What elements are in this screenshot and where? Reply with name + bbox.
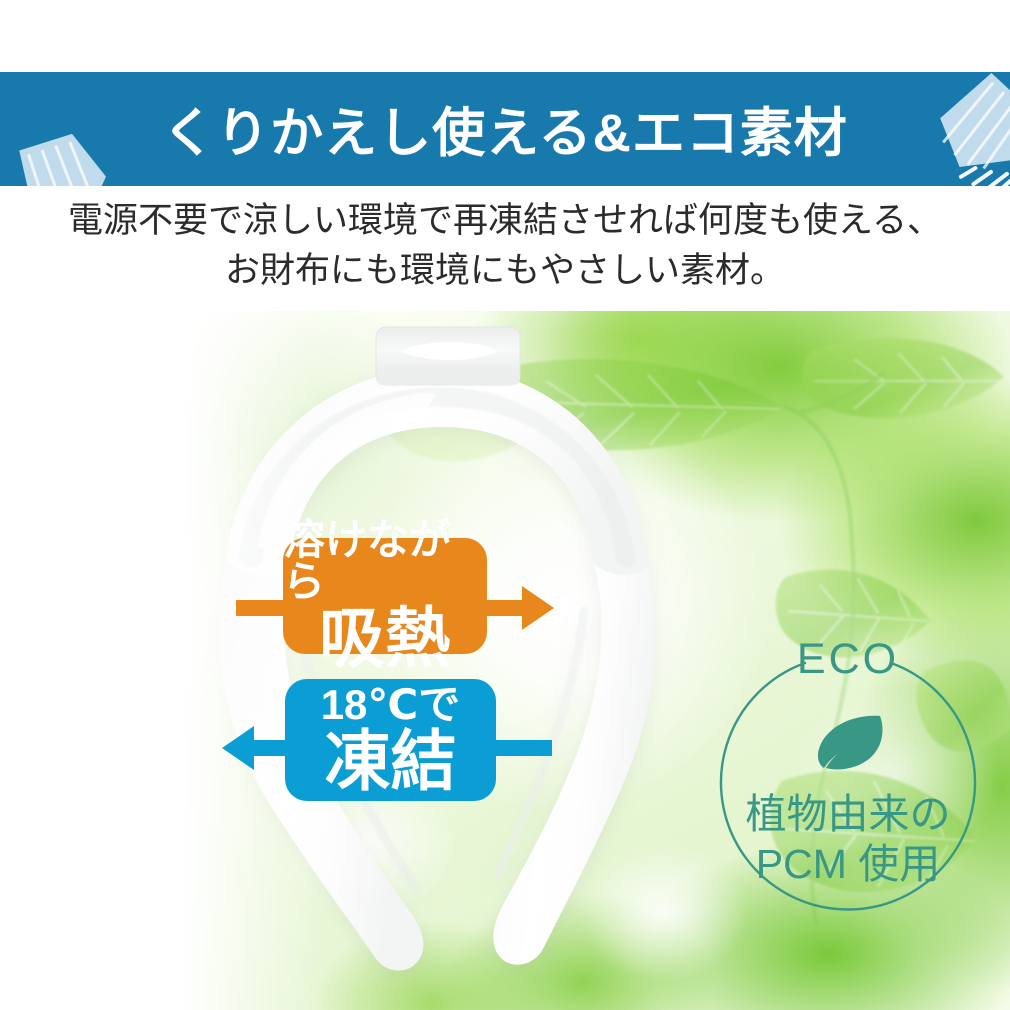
callout-absorb-heat: 溶けながら 吸熱: [283, 538, 487, 654]
header-banner: くりかえし使える&エコ素材: [0, 72, 1010, 186]
eco-description-line-2: PCM 使用: [715, 839, 981, 889]
subtitle: 電源不要で涼しい環境で再凍結させれば何度も使える、 お財布にも環境にもやさしい素…: [0, 196, 1010, 295]
eco-label: ECO: [715, 635, 981, 684]
promo-banner-page: くりかえし使える&エコ素材 電源不要で涼しい環境で再凍結させれば何度も使える、 …: [0, 0, 1010, 1010]
photo-edge-fade: [186, 311, 326, 1010]
leaf-icon: [810, 712, 886, 779]
eco-description-line-1: 植物由来の: [746, 791, 951, 837]
callout-freeze-small-label: 18℃で: [321, 684, 461, 726]
subtitle-line-2: お財布にも環境にもやさしい素材。: [0, 246, 1010, 296]
page-title: くりかえし使える&エコ素材: [0, 72, 1010, 186]
callout-freeze: 18℃で 凍結: [285, 679, 496, 801]
callout-freeze-big-label: 凍結: [325, 728, 457, 795]
callout-absorb-heat-big-label: 吸熱: [319, 605, 451, 672]
callout-absorb-heat-small-label: 溶けながら: [283, 519, 487, 603]
eco-badge: ECO 植物由来の PCM 使用: [715, 649, 981, 915]
subtitle-line-1: 電源不要で涼しい環境で再凍結させれば何度も使える、: [68, 201, 942, 240]
eco-description: 植物由来の PCM 使用: [715, 789, 981, 889]
